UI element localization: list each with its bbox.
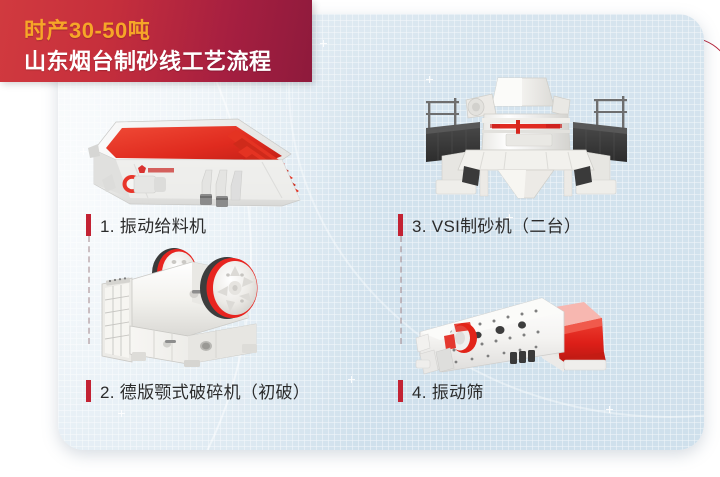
step-2-text: 2. 德版颚式破碎机（初破） xyxy=(100,378,310,403)
step-3-connector-dashed-line xyxy=(400,236,402,344)
machine-vibrating-screen xyxy=(414,276,626,376)
step-1-red-bar xyxy=(86,214,91,236)
step-2-label: 2. 德版颚式破碎机（初破） xyxy=(86,378,310,403)
step-4-red-bar xyxy=(398,380,403,402)
step-3-red-bar xyxy=(398,214,403,236)
step-4-label: 4. 振动筛 xyxy=(398,378,484,403)
step-4-text: 4. 振动筛 xyxy=(412,378,484,403)
machine-jaw-crusher xyxy=(96,240,291,370)
step-3-label: 3. VSI制砂机（二台） xyxy=(398,212,581,237)
sparkle-dot xyxy=(320,40,327,47)
machine-vsi-sand-maker xyxy=(418,74,636,206)
title-banner: 时产30-50吨 山东烟台制砂线工艺流程 xyxy=(0,0,312,82)
step-1-connector-dashed-line xyxy=(88,236,90,344)
step-1-label: 1. 振动给料机 xyxy=(86,212,206,237)
step-2-red-bar xyxy=(86,380,91,402)
banner-capacity-text: 时产30-50吨 xyxy=(24,13,150,45)
banner-title-text: 山东烟台制砂线工艺流程 xyxy=(24,44,272,76)
step-1-text: 1. 振动给料机 xyxy=(100,212,206,237)
sparkle-dot xyxy=(606,406,613,413)
machine-vibrating-feeder xyxy=(86,108,311,213)
sparkle-dot xyxy=(348,376,355,383)
sparkle-dot xyxy=(118,410,125,417)
flowchart-infographic: 1. 振动给料机 xyxy=(0,0,720,477)
step-3-text: 3. VSI制砂机（二台） xyxy=(412,212,581,237)
